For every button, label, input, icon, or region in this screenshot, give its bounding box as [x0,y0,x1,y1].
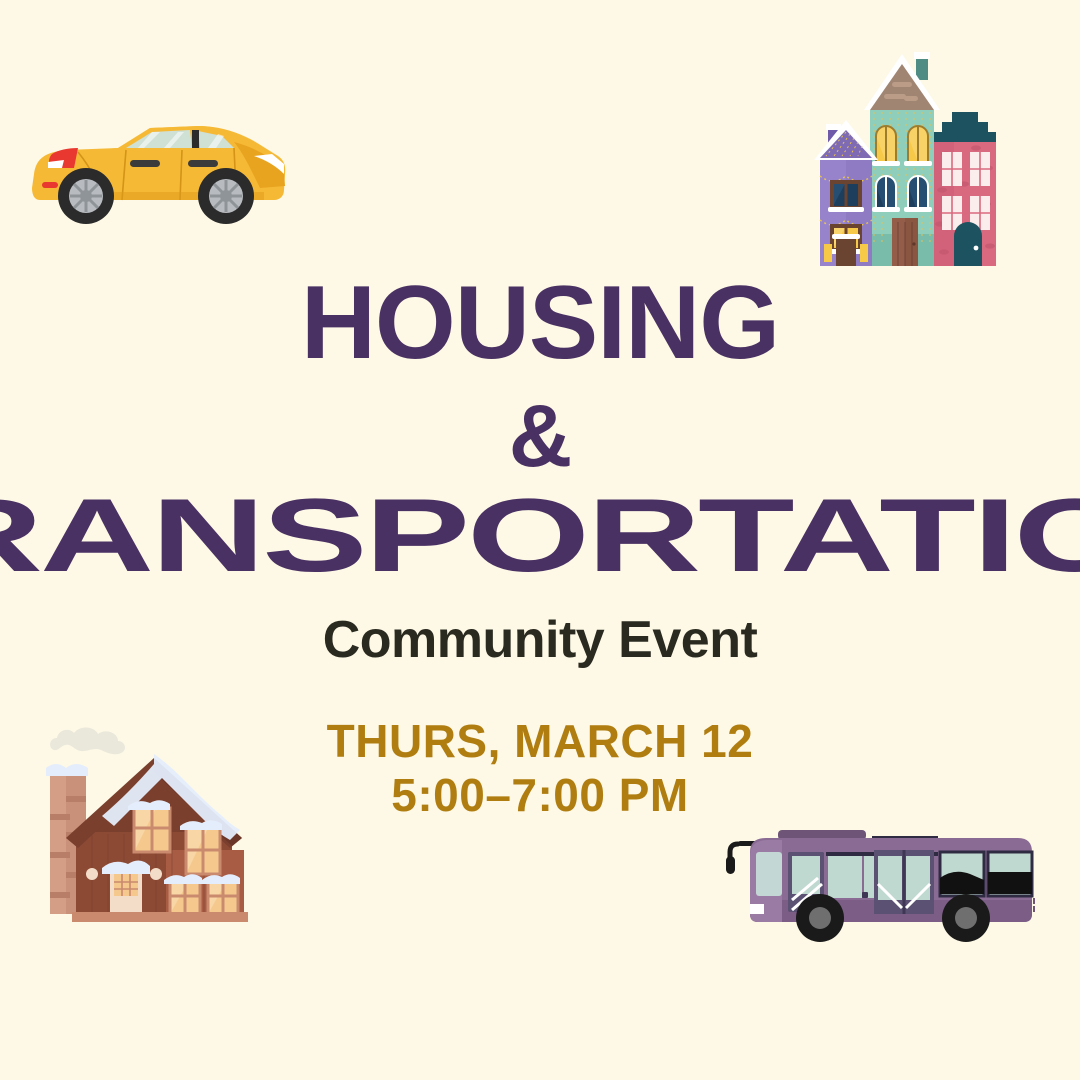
winter-wooden-house-illustration [36,722,286,939]
bus-rear-wheel [942,894,990,942]
townhouse-window [904,176,932,212]
page-title-ampersand: & [0,392,1080,480]
chimney-smoke-icon [50,727,125,754]
event-poster: HOUSING & TRANSPORTATION Community Event… [0,0,1080,1080]
yellow-hatchback-car-illustration [22,112,288,235]
townhouse-window [872,176,900,212]
bus-icon [722,822,1042,946]
house-window [202,874,240,914]
page-title-line-3: TRANSPORTATION [0,484,1080,588]
row-townhouses-illustration [806,44,1016,284]
townhouse-window [904,126,932,166]
house-icon [36,722,286,934]
car-front-wheel [198,168,254,224]
page-title-line-1: HOUSING [0,271,1080,375]
bus-front-wheel [796,894,844,942]
event-subtitle: Community Event [0,614,1080,666]
bus-rear-door [874,850,934,914]
townhouse-window [828,182,864,212]
purple-city-bus-illustration [722,822,1042,951]
car-icon [22,112,288,230]
house-window [180,820,222,874]
car-rear-wheel [58,168,114,224]
house-window [164,874,202,914]
townhouses-icon [806,44,1016,279]
house-window [128,800,170,852]
